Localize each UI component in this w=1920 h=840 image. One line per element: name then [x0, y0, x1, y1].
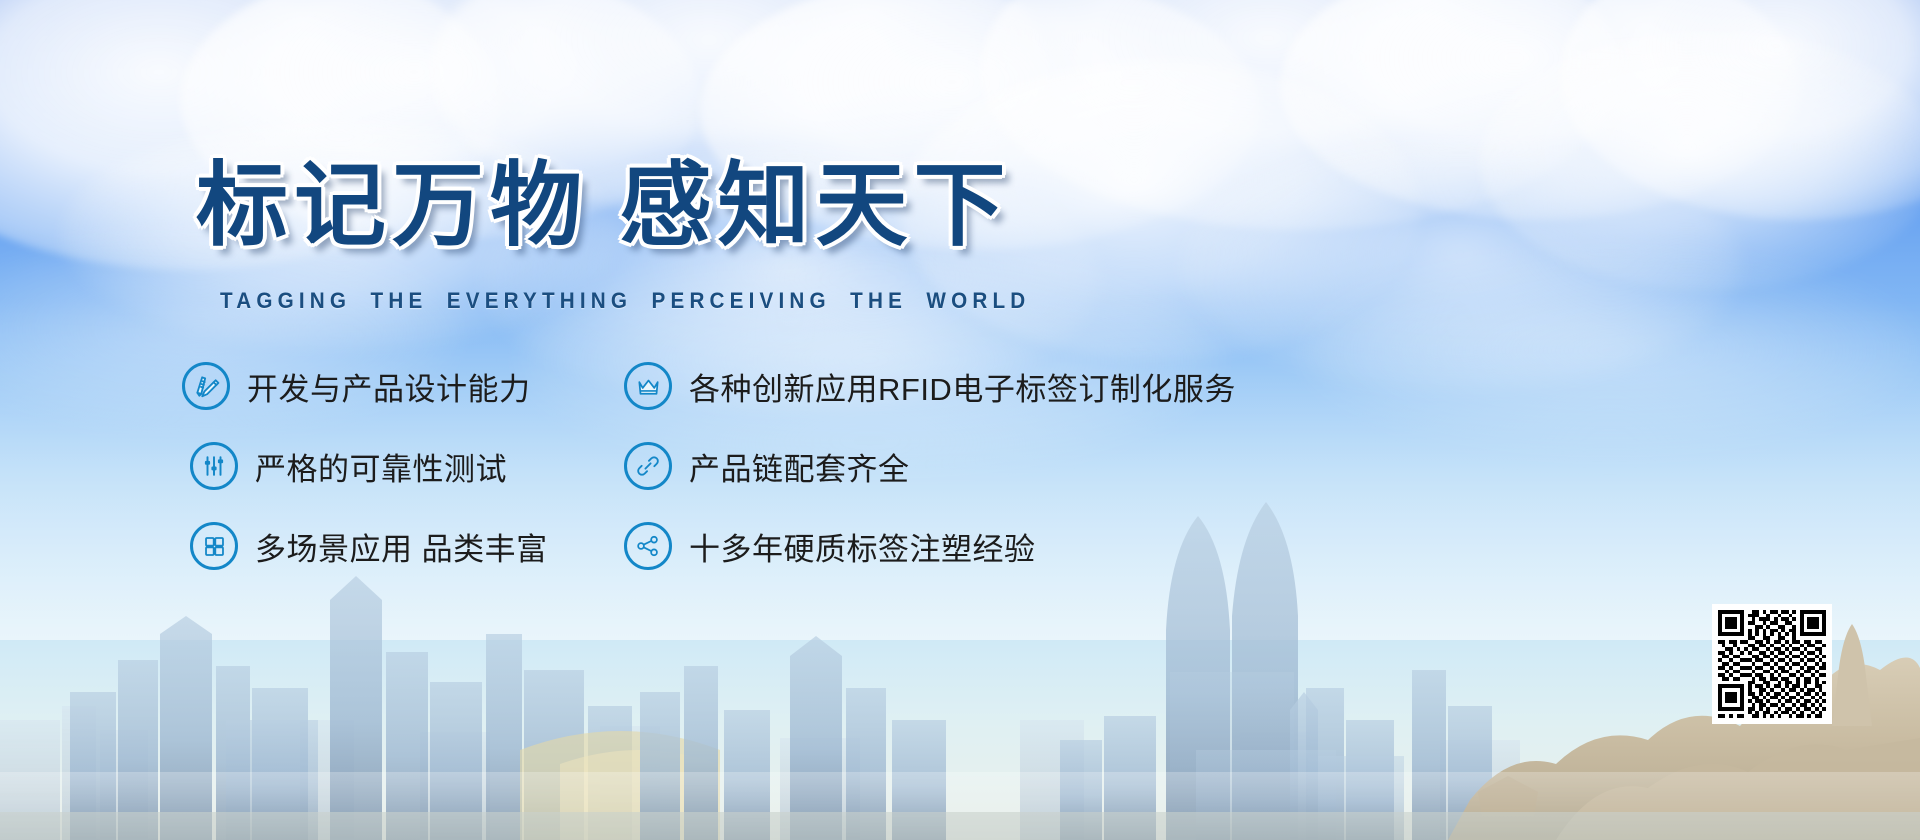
qr-code-container[interactable] — [1712, 604, 1832, 724]
feature-label: 产品链配套齐全 — [689, 444, 910, 489]
banner-content: 标记万物 感知天下 TAGGING THE EVERYTHING PERCEIV… — [0, 0, 1920, 840]
feature-row: 开发与产品设计能力 各种创新应用RFID电子标签订制化服务 — [190, 346, 1370, 426]
crown-icon — [624, 362, 672, 410]
feature-item-reliability-testing[interactable]: 严格的可靠性测试 — [190, 426, 610, 506]
pencil-ruler-icon — [182, 362, 230, 410]
feature-column-right: 各种创新应用RFID电子标签订制化服务 — [610, 346, 1370, 426]
feature-column-right: 十多年硬质标签注塑经验 — [610, 506, 1370, 586]
feature-item-rfid-custom-service[interactable]: 各种创新应用RFID电子标签订制化服务 — [624, 346, 1370, 426]
chain-link-icon — [624, 442, 672, 490]
feature-label: 严格的可靠性测试 — [255, 444, 507, 489]
grid-squares-icon — [190, 522, 238, 570]
feature-label: 多场景应用 品类丰富 — [255, 524, 548, 569]
page-subtitle: TAGGING THE EVERYTHING PERCEIVING THE WO… — [220, 288, 1030, 314]
sliders-icon — [190, 442, 238, 490]
feature-column-right: 产品链配套齐全 — [610, 426, 1370, 506]
feature-column-left: 开发与产品设计能力 — [190, 346, 610, 426]
feature-label: 十多年硬质标签注塑经验 — [689, 524, 1036, 569]
share-nodes-icon — [624, 522, 672, 570]
feature-column-left: 严格的可靠性测试 — [190, 426, 610, 506]
feature-row: 多场景应用 品类丰富 十多年硬质标签注塑经验 — [190, 506, 1370, 586]
feature-label: 各种创新应用RFID电子标签订制化服务 — [689, 364, 1236, 409]
page-title: 标记万物 感知天下 — [196, 160, 1012, 254]
qr-code — [1718, 610, 1826, 718]
feature-column-left: 多场景应用 品类丰富 — [190, 506, 610, 586]
feature-list: 开发与产品设计能力 各种创新应用RFID电子标签订制化服务 — [190, 346, 1370, 586]
feature-row: 严格的可靠性测试 产品链配套齐全 — [190, 426, 1370, 506]
feature-label: 开发与产品设计能力 — [247, 364, 531, 409]
feature-item-design-capability[interactable]: 开发与产品设计能力 — [182, 346, 610, 426]
feature-item-injection-molding-experience[interactable]: 十多年硬质标签注塑经验 — [624, 506, 1370, 586]
hero-banner: 标记万物 感知天下 TAGGING THE EVERYTHING PERCEIV… — [0, 0, 1920, 840]
feature-item-complete-product-chain[interactable]: 产品链配套齐全 — [624, 426, 1370, 506]
feature-item-multi-scenario-applications[interactable]: 多场景应用 品类丰富 — [190, 506, 610, 586]
